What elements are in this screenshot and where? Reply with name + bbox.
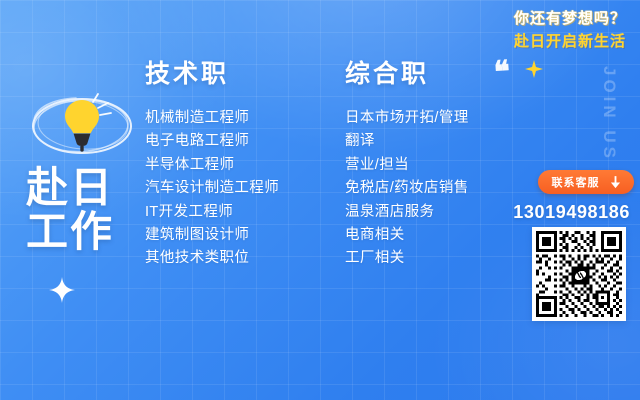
- slogan-line-1: 你还有梦想吗？: [514, 7, 626, 28]
- qr-code[interactable]: [532, 227, 626, 321]
- list-item: 机械制造工程师: [145, 107, 279, 130]
- contact-support-label: 联系客服: [552, 174, 600, 190]
- join-us-vertical-text: JOIN US: [599, 66, 619, 162]
- slogan-line-2: 赴日开启新生活: [514, 30, 626, 51]
- yellow-sparkle-icon: [525, 60, 543, 78]
- list-item: 翻译: [345, 130, 469, 153]
- list-item: 营业/担当: [345, 154, 469, 177]
- contact-support-button[interactable]: 联系客服: [538, 170, 634, 194]
- list-item: 工厂相关: [345, 247, 469, 270]
- list-item: 免税店/药妆店销售: [345, 177, 469, 200]
- phone-number[interactable]: 13019498186: [513, 202, 630, 223]
- list-item: 电商相关: [345, 224, 469, 247]
- column-technical-list: 机械制造工程师 电子电路工程师 半导体工程师 汽车设计制造工程师 IT开发工程师…: [145, 107, 279, 271]
- list-item: 电子电路工程师: [145, 130, 279, 153]
- column-general-heading: 综合职: [345, 62, 469, 87]
- list-item: 建筑制图设计师: [145, 224, 279, 247]
- list-item: 半导体工程师: [145, 154, 279, 177]
- download-arrow-icon: [610, 176, 621, 189]
- column-general: 综合职 日本市场开拓/管理 翻译 营业/担当 免税店/药妆店销售 温泉酒店服务 …: [345, 62, 469, 271]
- list-item: 日本市场开拓/管理: [345, 107, 469, 130]
- quote-mark-icon: ❝: [493, 57, 511, 88]
- column-technical-heading: 技术职: [145, 62, 279, 87]
- lightbulb-icon: [26, 86, 138, 164]
- list-item: 其他技术类职位: [145, 247, 279, 270]
- list-item: 温泉酒店服务: [345, 201, 469, 224]
- poster-canvas: 你还有梦想吗？ 赴日开启新生活 ❝ JOIN US: [0, 0, 640, 400]
- list-item: IT开发工程师: [145, 201, 279, 224]
- white-sparkle-icon: [49, 277, 75, 303]
- list-item: 汽车设计制造工程师: [145, 177, 279, 200]
- page-title-line-1: 赴日: [26, 166, 114, 210]
- column-technical: 技术职 机械制造工程师 电子电路工程师 半导体工程师 汽车设计制造工程师 IT开…: [145, 62, 279, 271]
- page-title: 赴日 工作: [26, 166, 114, 254]
- column-general-list: 日本市场开拓/管理 翻译 营业/担当 免税店/药妆店销售 温泉酒店服务 电商相关…: [345, 107, 469, 271]
- page-title-line-2: 工作: [26, 210, 114, 254]
